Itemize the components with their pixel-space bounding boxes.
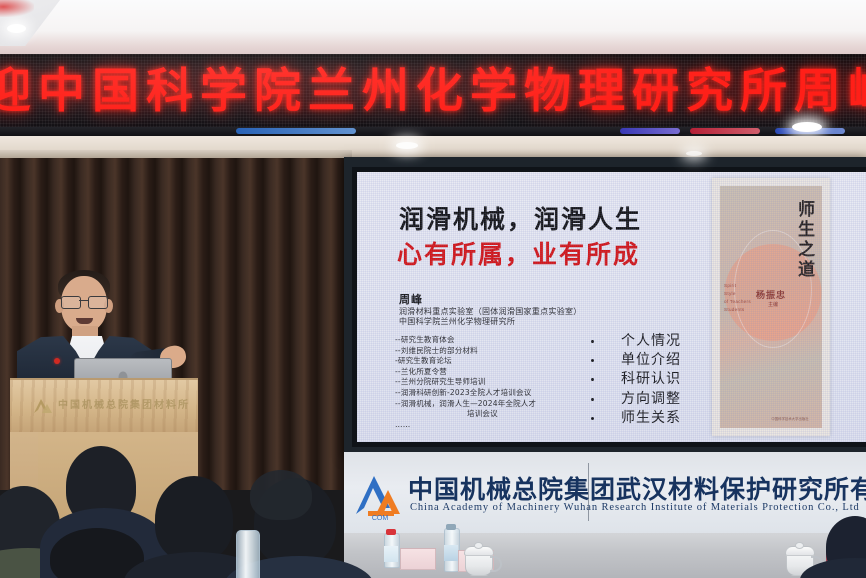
audience-head xyxy=(155,476,233,562)
rail-glow-violet xyxy=(620,128,680,134)
list-item: --研究生教育体会 xyxy=(395,335,610,346)
bottle-cap xyxy=(386,529,396,535)
glasses-bridge xyxy=(79,300,88,301)
book-editor-role: 主编 xyxy=(768,301,778,308)
glasses-icon xyxy=(60,296,108,308)
slide-outline-list: 个人情况 单位介绍 科研认识 方向调整 师生关系 xyxy=(587,332,681,428)
list-item: 方向调整 xyxy=(587,390,681,409)
ceiling-red-reflection xyxy=(0,0,34,17)
presentation-slide: 润滑机械，润滑人生 心有所属，业有所成 周峰 润滑材料重点实验室（固体润滑国家重… xyxy=(357,172,866,442)
tea-cup-knob xyxy=(795,542,804,549)
ceiling-downlight-right xyxy=(792,122,822,132)
rail-glow-blue xyxy=(236,128,356,134)
led-banner-text: 迎中国科学院兰州化学物理研究所周峰 xyxy=(0,62,866,122)
slide-history-list: --研究生教育体会 --刘维民院士的部分材料 -研究生教育论坛 --兰化所夏令营… xyxy=(395,335,610,430)
list-item: --兰化所夏令营 xyxy=(395,367,610,378)
audience-head xyxy=(250,470,312,520)
list-item: --兰州分院研究生导师培训 xyxy=(395,377,610,388)
glasses-lens-right xyxy=(88,296,108,309)
wall-sign-english: China Academy of Machinery Wuhan Researc… xyxy=(410,502,860,513)
name-card xyxy=(400,548,436,570)
led-banner: 迎中国科学院兰州化学物理研究所周峰 xyxy=(0,54,866,136)
company-logo-icon: CQM xyxy=(350,470,410,520)
slide-title-primary: 润滑机械，润滑人生 xyxy=(399,200,642,236)
book-english-line: Style xyxy=(724,290,758,298)
water-bottle xyxy=(236,530,260,578)
list-item: 单位介绍 xyxy=(587,351,681,370)
slide-affiliation-institute: 中国科学院兰州化学物理研究所 xyxy=(399,316,515,327)
book-english-line: Spirit xyxy=(724,282,758,290)
book-english-line: Students xyxy=(724,306,758,314)
list-item: --润滑科研创新-2023全院人才培训会议 xyxy=(395,388,610,399)
ceiling-downlight xyxy=(7,24,26,33)
ceiling xyxy=(0,0,866,56)
book-cover-image: 师生之道 杨振忠 主编 Spirit Style of Teachers Stu… xyxy=(712,178,830,436)
wall-sign-chinese: 中国机械总院集团武汉材料保护研究所有限公司 xyxy=(408,470,866,506)
wall-downlight-center xyxy=(396,142,418,149)
glasses-lens-left xyxy=(61,296,81,309)
book-english-line: of Teachers xyxy=(724,298,758,306)
list-item: 培训会议 xyxy=(395,409,610,420)
list-item: -研究生教育论坛 xyxy=(395,356,610,367)
tea-cup-knob xyxy=(474,542,483,549)
book-author: 杨振忠 xyxy=(756,288,786,301)
podium-logo-icon xyxy=(32,396,54,415)
bottle-label xyxy=(444,545,458,561)
book-title: 师生之道 xyxy=(794,200,814,280)
bottle-cap xyxy=(446,524,456,530)
list-item: …… xyxy=(395,420,610,431)
list-item: --刘维民院士的部分材料 xyxy=(395,346,610,357)
slide-author-name: 周峰 xyxy=(399,291,423,307)
list-item: --润滑机械，润滑人生—2024年全院人才 xyxy=(395,399,610,410)
list-item: 师生关系 xyxy=(587,409,681,428)
bottle-label xyxy=(384,546,398,562)
curtain-rail xyxy=(0,150,352,158)
rail-glow-red xyxy=(690,128,760,134)
list-item: 个人情况 xyxy=(587,332,681,351)
svg-text:CQM: CQM xyxy=(372,515,389,520)
book-publisher: 中国科学技术大学出版社 xyxy=(758,417,822,422)
list-item: 科研认识 xyxy=(587,370,681,389)
book-english-subtitle: Spirit Style of Teachers Students xyxy=(724,282,758,314)
screenshot-root: 迎中国科学院兰州化学物理研究所周峰 润滑机械，润滑人生 心有所属，业有所成 周峰… xyxy=(0,0,866,578)
wall-downlight-right xyxy=(686,151,702,156)
lapel-pin-icon xyxy=(54,358,60,364)
slide-title-secondary: 心有所属，业有所成 xyxy=(397,235,640,271)
podium-engraved-text: 中国机械总院集团材料所 xyxy=(58,396,190,411)
